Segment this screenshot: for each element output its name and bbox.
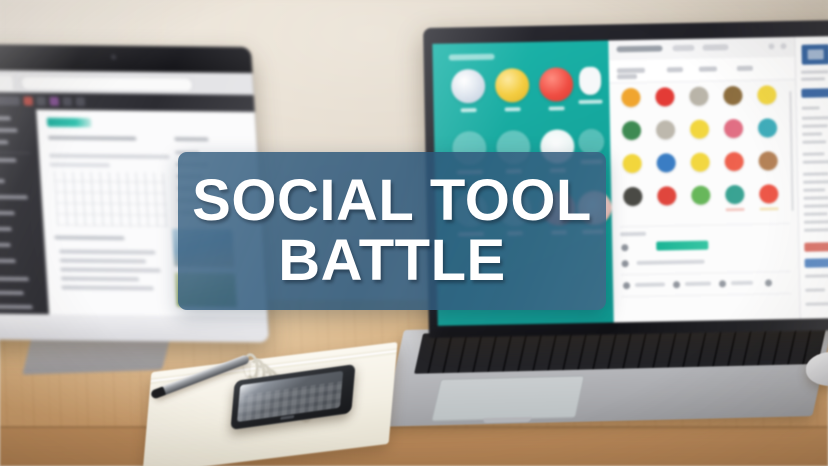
picker-dot[interactable]: [725, 152, 744, 171]
title-line-2: BATTLE: [278, 231, 505, 291]
sidebar-item[interactable]: [0, 257, 16, 265]
picker-dot[interactable]: [657, 153, 676, 172]
nav-item[interactable]: [76, 97, 86, 106]
sidebar-item[interactable]: [0, 138, 9, 146]
title-overlay-card: SOCIAL TOOL BATTLE: [178, 152, 606, 310]
list-row[interactable]: [61, 285, 153, 290]
subnav-caption: [617, 74, 637, 79]
minimize-icon[interactable]: [768, 43, 774, 49]
sidebar-item[interactable]: [0, 241, 11, 249]
picker-dot[interactable]: [622, 121, 641, 140]
nav-item[interactable]: [63, 97, 73, 106]
phone-screen[interactable]: [237, 371, 343, 422]
tab[interactable]: [702, 44, 728, 50]
section-title: [54, 236, 124, 241]
address-bar[interactable]: [20, 76, 193, 93]
sidebar-item[interactable]: [0, 303, 33, 312]
divider: [621, 293, 791, 297]
list-row[interactable]: [59, 250, 156, 255]
sidebar-item[interactable]: [0, 177, 5, 185]
picker-dot[interactable]: [656, 120, 675, 139]
nav-item[interactable]: [49, 97, 59, 106]
article-thumbnail: [801, 44, 828, 65]
app-icon-3[interactable]: [537, 67, 576, 111]
globe-icon: [451, 69, 486, 104]
picker-dot[interactable]: [691, 186, 710, 205]
avatar-icon: [621, 244, 628, 251]
article-line: [802, 132, 822, 135]
like-icon[interactable]: [623, 282, 630, 289]
list-row[interactable]: [61, 276, 139, 281]
panel-title: [449, 54, 495, 61]
picker-dot[interactable]: [655, 87, 674, 106]
app-icon-label: [549, 106, 565, 110]
picker-dot[interactable]: [621, 88, 640, 107]
divider: [620, 223, 790, 227]
sidebar-divider: [0, 152, 30, 154]
article-panel: [794, 36, 828, 319]
laptop-lid-notch: [483, 417, 532, 423]
nav-item[interactable]: [36, 97, 46, 106]
primary-button[interactable]: [801, 88, 828, 98]
picker-dot[interactable]: [690, 120, 709, 139]
article-line: [803, 196, 828, 199]
app-icon-label: [578, 100, 602, 104]
more-icon[interactable]: [765, 279, 772, 286]
page-heading: [48, 136, 136, 141]
emoji-picker-grid: [619, 85, 785, 88]
search-field[interactable]: [0, 96, 20, 105]
pin-icon: [579, 67, 602, 95]
notification-icon[interactable]: [23, 97, 33, 106]
panel-title: [174, 137, 208, 141]
list-row[interactable]: [60, 259, 146, 264]
app-icon-4[interactable]: [575, 67, 606, 105]
picker-dot[interactable]: [725, 185, 744, 204]
subnav-item[interactable]: [699, 66, 717, 71]
secondary-button[interactable]: [805, 258, 828, 268]
content-subnav: [609, 57, 795, 84]
monitor-bezel: [0, 44, 252, 73]
article-line: [802, 124, 828, 127]
article-line: [803, 172, 828, 175]
picker-dot[interactable]: [757, 85, 776, 104]
app-icon-2[interactable]: [493, 68, 532, 112]
webcam-icon: [111, 55, 116, 60]
picker-dot[interactable]: [758, 151, 777, 170]
sidebar-item[interactable]: [0, 225, 12, 233]
sidebar-item[interactable]: [0, 275, 29, 283]
sidebar-item[interactable]: [0, 114, 11, 122]
article-line: [805, 274, 828, 278]
list-row[interactable]: [60, 267, 161, 272]
section-label: [620, 232, 646, 236]
article-line: [805, 288, 825, 291]
divider: [621, 271, 791, 275]
sidebar-item[interactable]: [0, 289, 24, 297]
record-icon: [539, 67, 574, 102]
meta-text: [637, 260, 705, 265]
article-line: [804, 212, 828, 215]
status-badge: [656, 241, 708, 251]
screenshot-scene: SOCIAL TOOL BATTLE: [0, 0, 828, 466]
app-icon-label: [461, 108, 477, 112]
article-line: [803, 180, 828, 184]
article-line: [804, 220, 828, 224]
article-line: [803, 160, 828, 164]
article-line: [802, 140, 826, 143]
sidebar-item[interactable]: [0, 193, 28, 202]
subnav-item[interactable]: [667, 67, 683, 72]
comment-icon[interactable]: [673, 281, 680, 288]
picker-dot[interactable]: [691, 153, 710, 172]
desk-front-face: [0, 428, 828, 466]
sidebar-item[interactable]: [0, 126, 18, 134]
monitor-chin: [0, 313, 269, 342]
article-line: [803, 188, 825, 191]
article-line: [804, 228, 828, 231]
picker-dot[interactable]: [689, 87, 708, 106]
browser-tab[interactable]: [0, 75, 13, 90]
laptop-trackpad[interactable]: [431, 376, 584, 422]
alert-button[interactable]: [804, 242, 828, 252]
picker-dot[interactable]: [623, 187, 642, 206]
article-line: [803, 152, 825, 155]
picker-dot[interactable]: [724, 119, 743, 138]
article-line: [801, 77, 825, 80]
brand-logo: [47, 118, 92, 127]
coin-icon: [495, 68, 530, 103]
picker-dot[interactable]: [623, 154, 642, 173]
bar-chart: [54, 172, 168, 227]
close-icon[interactable]: [780, 43, 786, 49]
action-label[interactable]: [731, 281, 753, 285]
action-label[interactable]: [635, 282, 665, 287]
sidebar-item[interactable]: [0, 209, 15, 217]
picker-dot[interactable]: [758, 118, 777, 137]
article-line: [802, 106, 820, 109]
article-line: [805, 302, 828, 305]
share-icon[interactable]: [719, 280, 726, 287]
subnav-item[interactable]: [617, 68, 645, 74]
avatar-icon: [622, 260, 629, 267]
article-line: [801, 70, 828, 74]
tab[interactable]: [672, 45, 694, 51]
picker-dot[interactable]: [657, 186, 676, 205]
table-header: [49, 154, 170, 159]
content-panel: [608, 37, 799, 323]
app-icon-1[interactable]: [449, 69, 488, 113]
picker-dot-label: [760, 207, 779, 210]
tab-active[interactable]: [616, 45, 662, 52]
action-label[interactable]: [685, 282, 711, 286]
sidebar-section-label: [0, 158, 17, 162]
article-line: [802, 116, 828, 120]
article-line: [804, 204, 828, 208]
table-subheader: [50, 163, 110, 168]
phone-charging-port: [280, 415, 294, 420]
picker-dot-label: [726, 208, 745, 211]
picker-dot[interactable]: [723, 86, 742, 105]
subnav-item[interactable]: [737, 66, 753, 71]
app-icon-label: [505, 107, 521, 111]
title-line-1: SOCIAL TOOL: [192, 171, 592, 231]
picker-dot[interactable]: [759, 184, 778, 203]
